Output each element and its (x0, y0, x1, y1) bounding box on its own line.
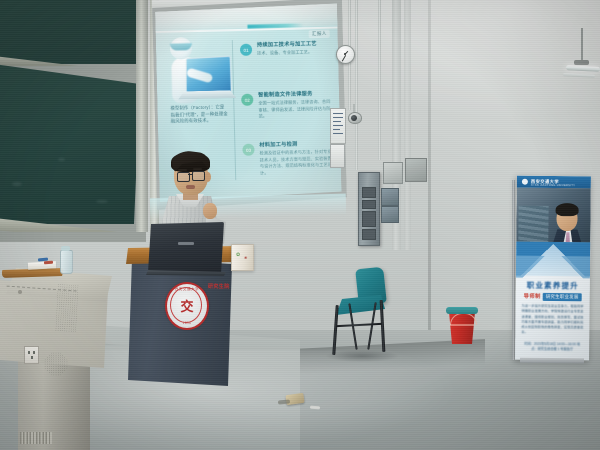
chalk-smudge (96, 200, 108, 203)
chair-shadow (326, 350, 398, 362)
blackboard-lower-panel (0, 64, 140, 224)
slide-bullet-number: 03 (242, 144, 254, 156)
bucket-lid (446, 307, 478, 314)
notice-text-line (333, 121, 341, 122)
presenter-glasses-bridge (188, 174, 193, 175)
presenter-laptop[interactable] (148, 222, 224, 274)
power-outlet[interactable] (24, 346, 39, 364)
panel-breaker-slot (362, 229, 376, 240)
outlet-slot (31, 356, 33, 359)
banner-base-stand (520, 358, 584, 364)
presenter-hand (203, 203, 217, 219)
floor-debris-small (310, 406, 320, 410)
presenter-ear (205, 172, 211, 182)
slide-bullet-body: 检测及验证中的技术与方法，针对专业技术人员，技术方案与规范、实验装置与设计方法、… (260, 149, 337, 177)
wall-small-sign (330, 144, 345, 168)
wall-conduit-3 (378, 0, 381, 160)
clock-minute-hand (341, 55, 345, 61)
slide-laptop-base-icon (178, 90, 236, 99)
banner-logo-subtext: XI'AN JIAOTONG UNIVERSITY (531, 183, 575, 186)
camera-lens-icon (351, 115, 357, 121)
slide-column-divider (232, 40, 236, 180)
slide-bullet-number: 01 (240, 44, 252, 56)
slide-bullet-2: 02 智能制造文件法律服务 全国一站式法律服务，法律咨询、合同审核、律师函发送、… (241, 90, 335, 92)
classroom-presentation-scene: 汇报人 模型制作（Factory）：它是指我们“代理”，是一种处理金融风险的有效… (0, 0, 600, 450)
banner-paragraph: 为进一步提升研究生就业竞争力，帮助同学明确职业发展方向，学院特邀请行业专家走进课… (521, 304, 583, 336)
notice-text-line (333, 129, 340, 130)
outlet-slot (33, 351, 35, 354)
slide-bullet-title: 智能制造文件法律服务 (258, 90, 313, 98)
av-cabinet-latch[interactable] (18, 290, 22, 294)
rollup-banner: 西安交通大学 XI'AN JIAOTONG UNIVERSITY 职业素养提升 … (515, 176, 591, 361)
banner-chevron-graphic-overlay (516, 256, 590, 279)
chalk-smudge (58, 158, 65, 161)
portrait-hair (556, 203, 579, 216)
chalk-smudge (12, 182, 22, 186)
tissue-box-graphic-secondary: ❀ (244, 255, 247, 260)
speaker-grille (55, 283, 79, 332)
wall-control-box[interactable] (381, 188, 399, 206)
bucket-band (450, 324, 474, 326)
slide-bullet-title: 持续加工技术与加工工艺 (257, 40, 317, 48)
blackboard-upper-panel (0, 0, 146, 64)
wall-corner-edge (428, 0, 431, 372)
emblem-glyph: 交 (180, 300, 193, 313)
wall-control-box[interactable] (381, 206, 399, 223)
notice-text-line (333, 113, 343, 114)
speaker-grille-round (44, 352, 68, 376)
slide-presenter-tag: 汇报人 (309, 30, 330, 39)
university-logo-icon (522, 179, 528, 185)
university-emblem: 西安交通大学 交 1896 (165, 282, 209, 330)
wall-pilaster-right (404, 0, 411, 250)
panel-breaker-slot (362, 187, 376, 198)
notice-text-line (333, 125, 343, 126)
marker-pen (44, 261, 53, 265)
slide-bullet-body: 技术、设备、专业加工工艺。 (257, 49, 333, 57)
banner-subtitle-badge: 研究生职业发展 (543, 292, 582, 300)
slide-illustration-caption: 模型制作（Factory）：它是指我们“代理”，是一种处理金融风险的有效技术。 (170, 104, 228, 125)
wall-junction-box (405, 158, 427, 182)
lamp-suspension-rod (581, 28, 583, 63)
slide-bullet-number: 02 (241, 94, 253, 106)
slide-bullet-3: 03 材料加工与检测 检测及验证中的技术与方法，针对专业技术人员，技术方案与规范… (242, 140, 336, 142)
presenter-mouth (186, 185, 195, 189)
water-bottle (60, 250, 73, 274)
tissue-box (231, 244, 254, 271)
presenter-eyebrow-left (178, 169, 187, 171)
notice-text-line (333, 117, 343, 118)
laptop-logo (178, 242, 194, 245)
banner-footer-info: 时间：2023年5月18日 14:00—16:00 地点：研究生综合楼 1 号报… (523, 342, 581, 353)
slide-bullet-1: 01 持续加工技术与加工工艺 技术、设备、专业加工工艺。 (240, 40, 334, 42)
podium-side-text: 研究生院 (208, 283, 230, 290)
presenter-glasses-right-lens (192, 171, 205, 181)
lamp-housing (574, 60, 589, 65)
panel-breaker-slot (362, 200, 376, 209)
banner-title: 职业素养提升 (516, 280, 590, 292)
av-cabinet-vent (20, 432, 52, 444)
panel-breaker-slot (362, 211, 376, 227)
presenter-eyebrow-right (193, 168, 202, 170)
wall-junction-box (383, 162, 403, 184)
wall-conduit-2 (355, 0, 358, 170)
banner-subtitle-red: 导师制 (524, 293, 541, 300)
water-bottle-cap (61, 246, 70, 251)
wall-notice-sign (330, 108, 346, 144)
tissue-box-graphic: ✿ (236, 252, 240, 258)
notice-text-line (333, 133, 343, 134)
emblem-bottom-text: 1896 (167, 321, 207, 325)
wall-clock (336, 45, 355, 64)
banner-subtitle-row: 导师制 研究生职业发展 (524, 292, 582, 302)
outlet-slot (28, 351, 30, 354)
electrical-panel[interactable] (358, 172, 380, 246)
blackboard-right-post (136, 0, 148, 232)
slide-bullet-body: 全国一站式法律服务，法律咨询、合同审核、律师函发送、法律风险评估与防范。 (258, 99, 334, 120)
slide-bullet-title: 材料加工与检测 (259, 141, 297, 149)
emblem-top-text: 西安交通大学 (167, 287, 207, 292)
